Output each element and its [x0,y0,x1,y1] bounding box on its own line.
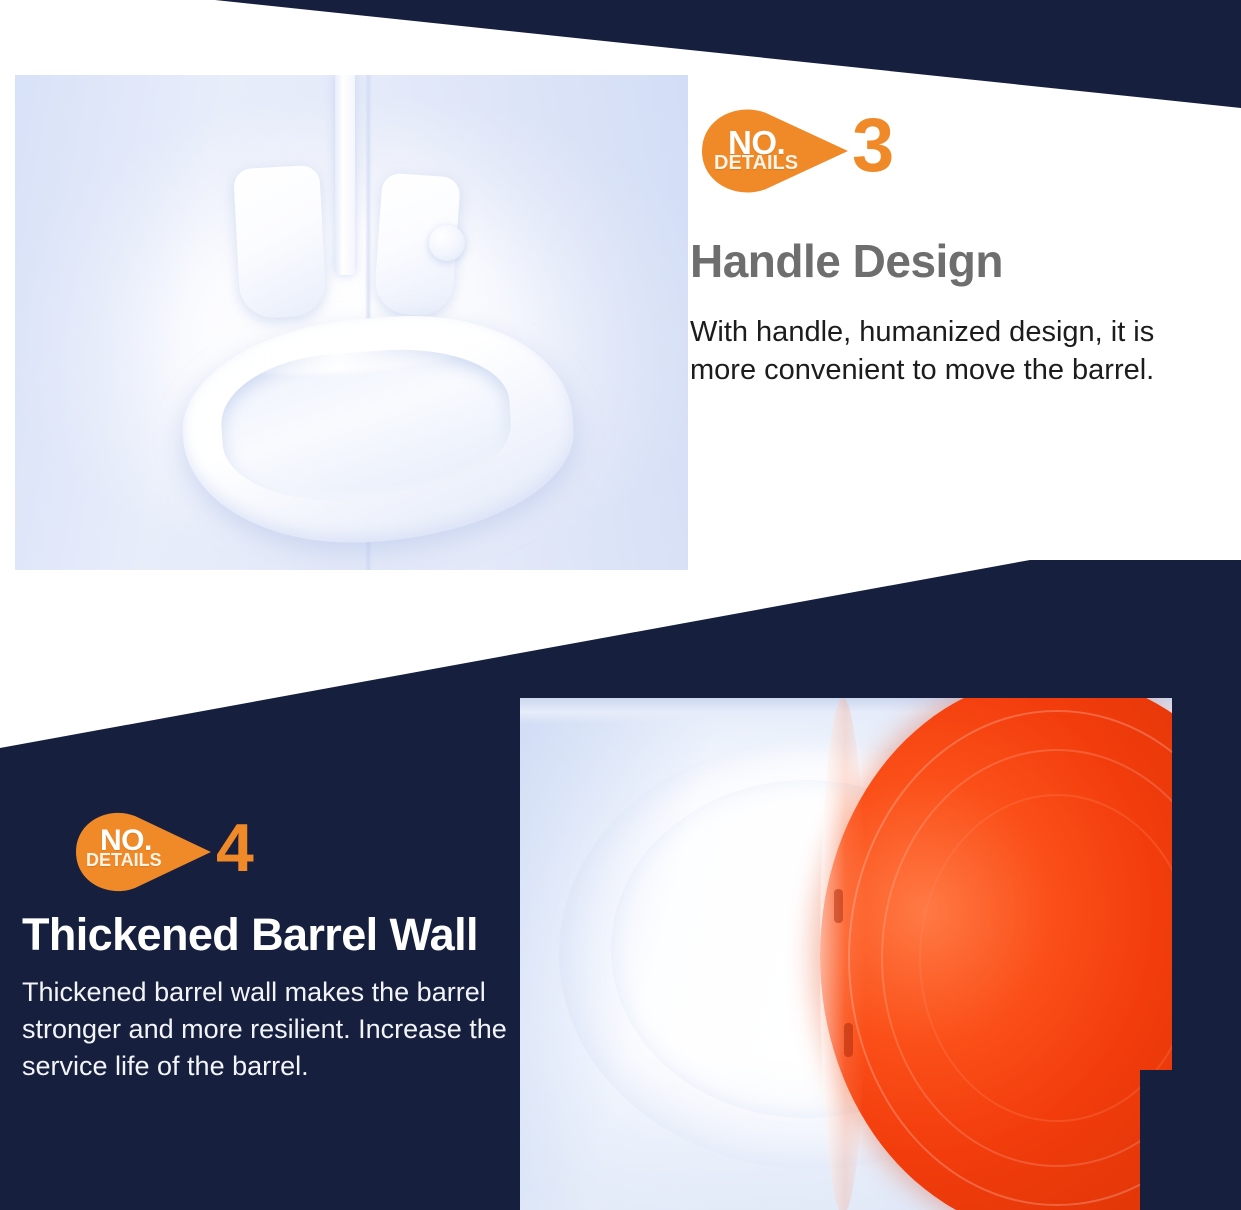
photo-corner-mask [1140,1070,1172,1210]
badge-number: 4 [216,814,254,882]
section-body: With handle, humanized design, it is mor… [690,313,1220,390]
handle-mount-left [233,165,327,319]
detail-badge-4: NO. DETAILS 4 [72,812,254,892]
badge-sub-label: DETAILS [86,850,162,871]
lid-notch [834,889,843,923]
handle-pivot-knob [429,225,465,261]
handle-stem [335,75,355,275]
product-feature-infographic: NO. DETAILS 3 Handle Design With handle,… [0,0,1241,1210]
photo-thickened-barrel-wall [520,698,1172,1210]
teardrop-icon: NO. DETAILS [698,108,858,194]
detail-badge-3: NO. DETAILS 3 [698,108,894,194]
text-block-handle-design: Handle Design With handle, humanized des… [690,238,1220,390]
badge-number: 3 [852,108,894,184]
text-block-thickened-barrel-wall: Thickened Barrel Wall Thickened barrel w… [22,912,542,1086]
section-heading: Thickened Barrel Wall [22,912,542,958]
section-body: Thickened barrel wall makes the barrel s… [22,974,542,1086]
badge-sub-label: DETAILS [714,152,798,175]
teardrop-icon: NO. DETAILS [72,812,220,892]
lid-notch [844,1023,853,1057]
section-heading: Handle Design [690,238,1220,285]
photo-handle-design [15,75,688,570]
